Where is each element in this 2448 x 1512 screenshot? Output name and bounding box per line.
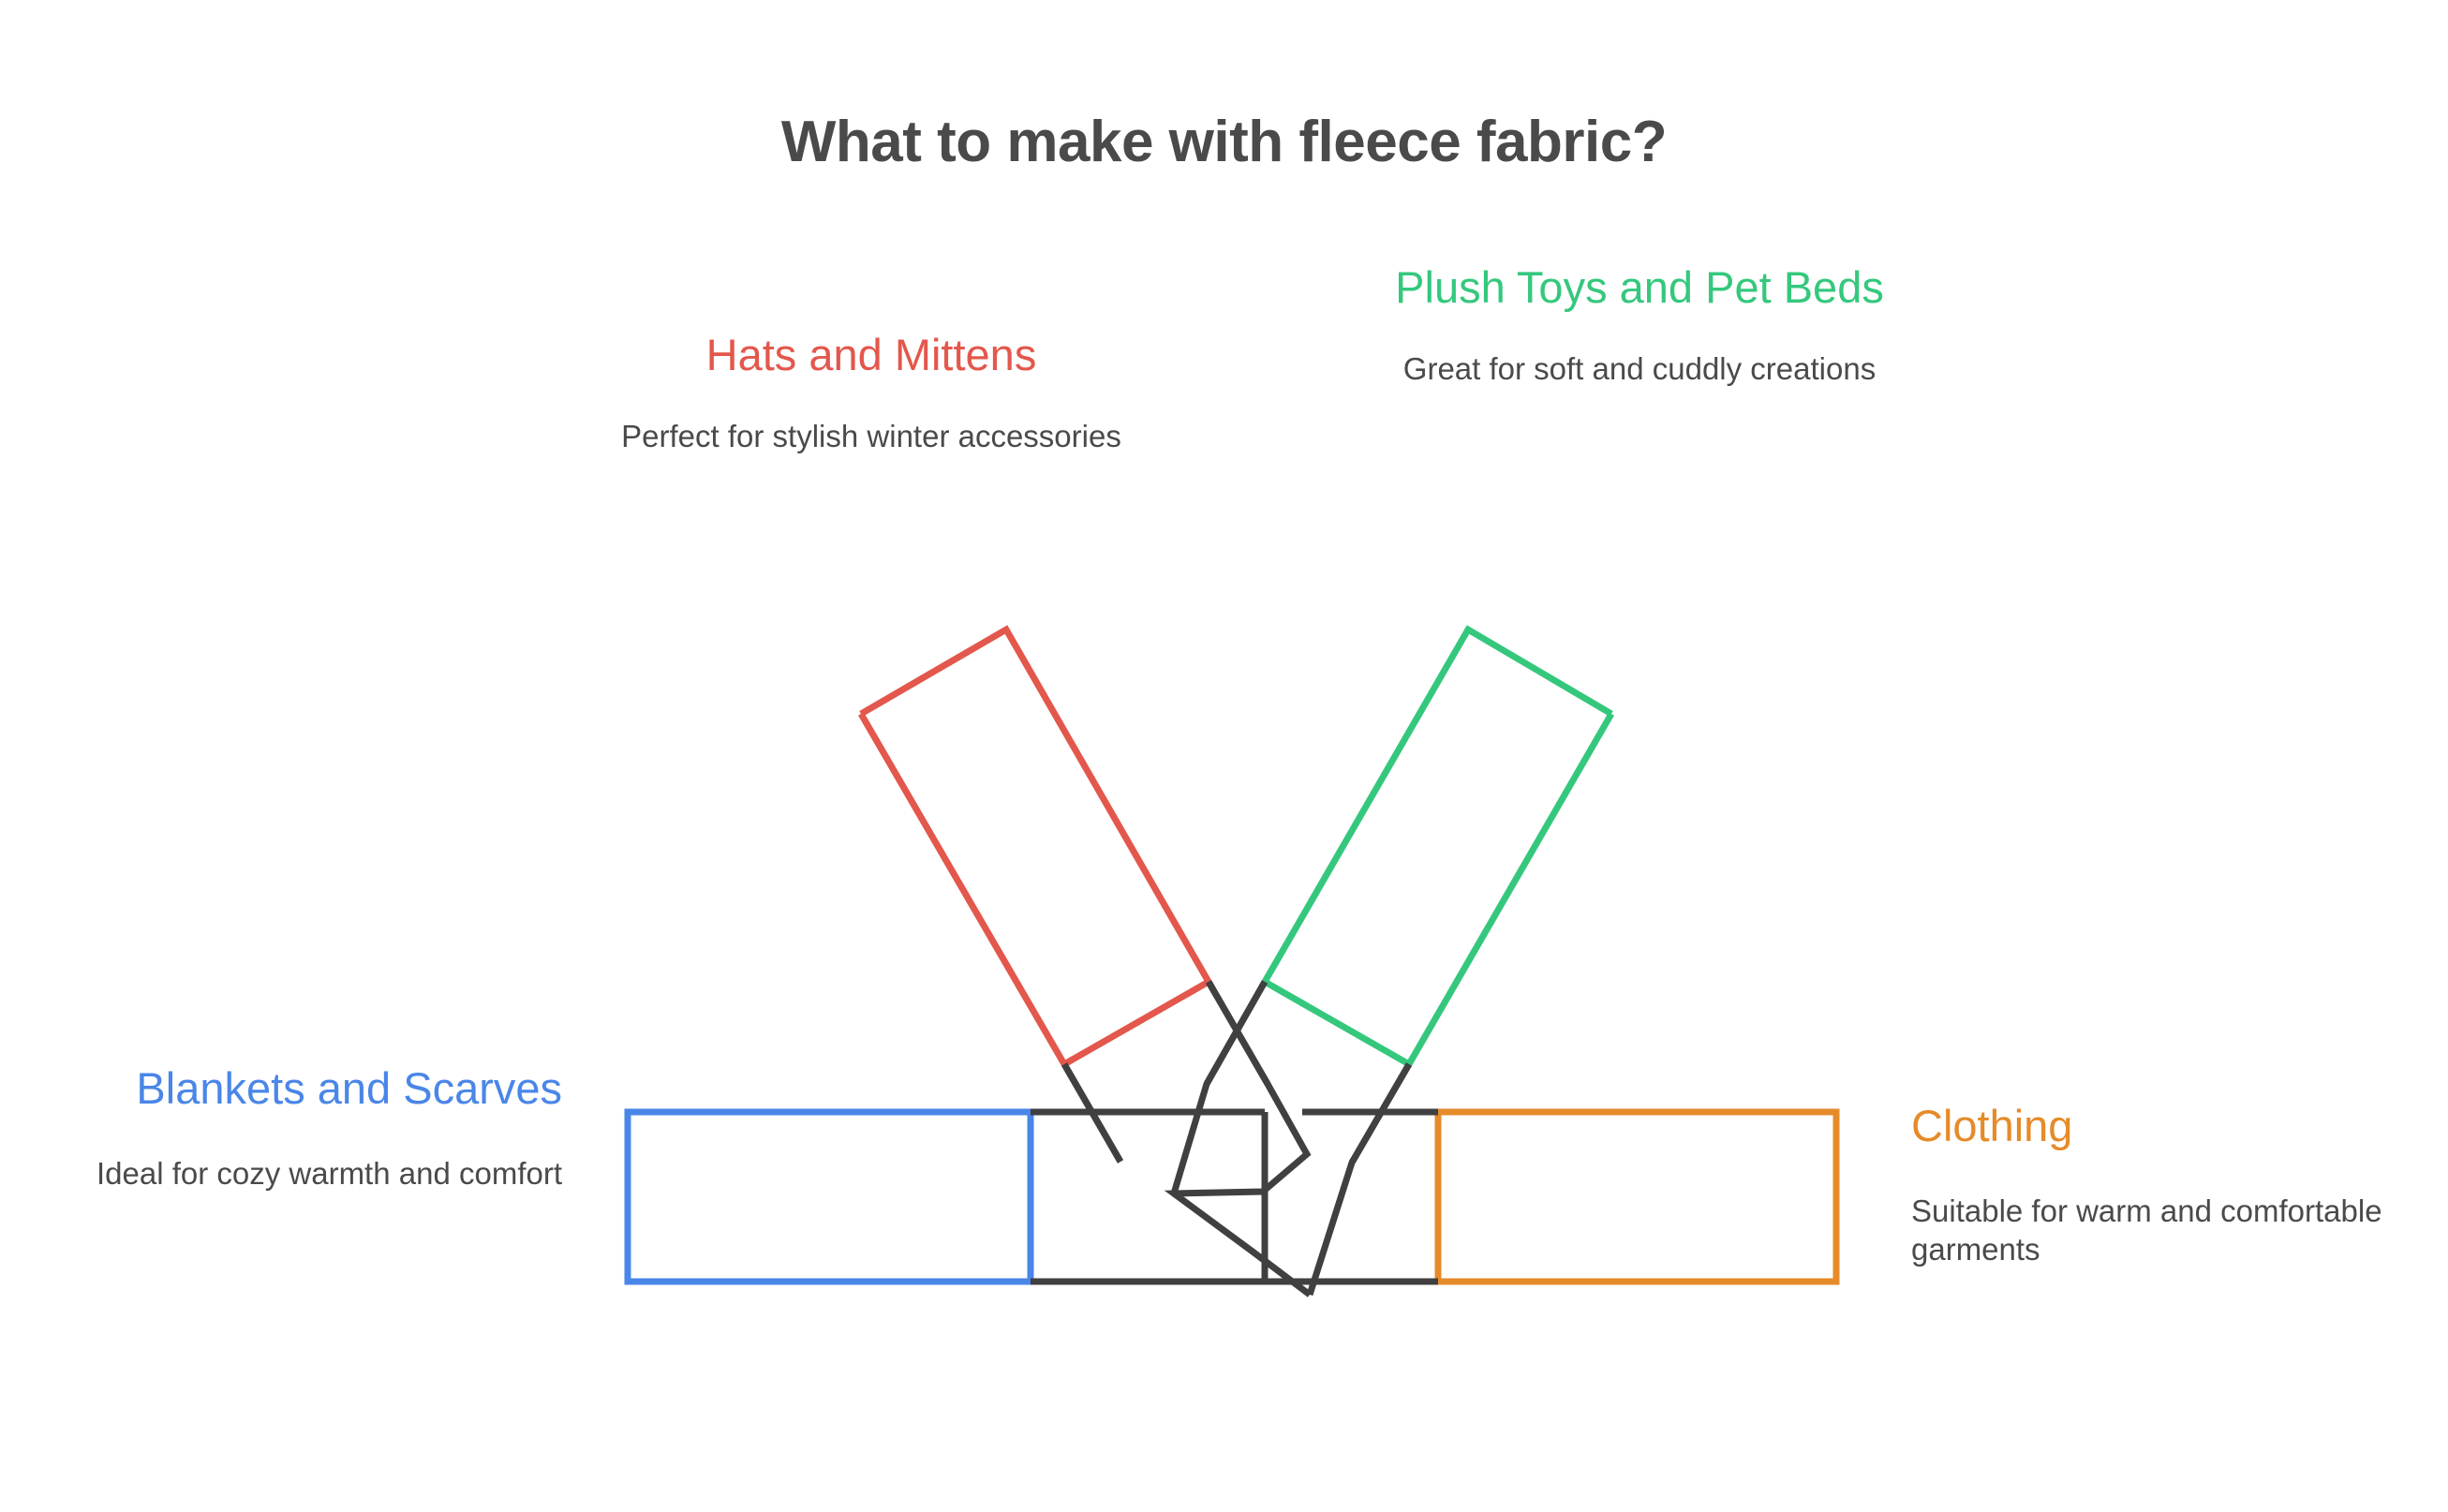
node-blankets-title: Blankets and Scarves	[19, 1063, 562, 1115]
bar-green-outline	[1265, 630, 1611, 1064]
center-arm-green	[1174, 982, 1265, 1193]
infographic-canvas: What to make with fleece fabric?	[0, 0, 2448, 1512]
bar-blue-outline	[628, 1112, 1031, 1282]
bar-red-outline	[861, 630, 1209, 1064]
node-hats-and-mittens[interactable]: Hats and Mittens Perfect for stylish win…	[525, 330, 1218, 455]
bar-orange-outline	[1438, 1112, 1836, 1282]
node-hats-title: Hats and Mittens	[525, 330, 1218, 381]
node-clothing[interactable]: Clothing Suitable for warm and comfortab…	[1911, 1101, 2436, 1268]
bar-blue-inner	[1031, 1112, 1265, 1282]
node-plush-toys-and-pet-beds[interactable]: Plush Toys and Pet Beds Great for soft a…	[1293, 262, 1986, 388]
bar-orange-inner	[1265, 1112, 1438, 1282]
pinwheel-diagram	[0, 0, 2448, 1512]
bar-blankets-and-scarves[interactable]	[628, 1112, 1265, 1282]
node-blankets-and-scarves[interactable]: Blankets and Scarves Ideal for cozy warm…	[19, 1063, 562, 1193]
bar-clothing[interactable]	[1265, 1112, 1836, 1282]
pinwheel-center-arms	[1064, 982, 1409, 1295]
node-clothing-description: Suitable for warm and comfortable garmen…	[1911, 1192, 2436, 1269]
node-plush-title: Plush Toys and Pet Beds	[1293, 262, 1986, 314]
bar-red-inner-cap	[861, 714, 1064, 1064]
node-plush-description: Great for soft and cuddly creations	[1293, 349, 1986, 388]
node-hats-description: Perfect for stylish winter accessories	[525, 417, 1218, 455]
bar-green-inner-cap	[1409, 714, 1611, 1064]
center-arm-green-lower	[1310, 1064, 1409, 1295]
node-clothing-title: Clothing	[1911, 1101, 2436, 1152]
node-blankets-description: Ideal for cozy warmth and comfort	[19, 1154, 562, 1193]
